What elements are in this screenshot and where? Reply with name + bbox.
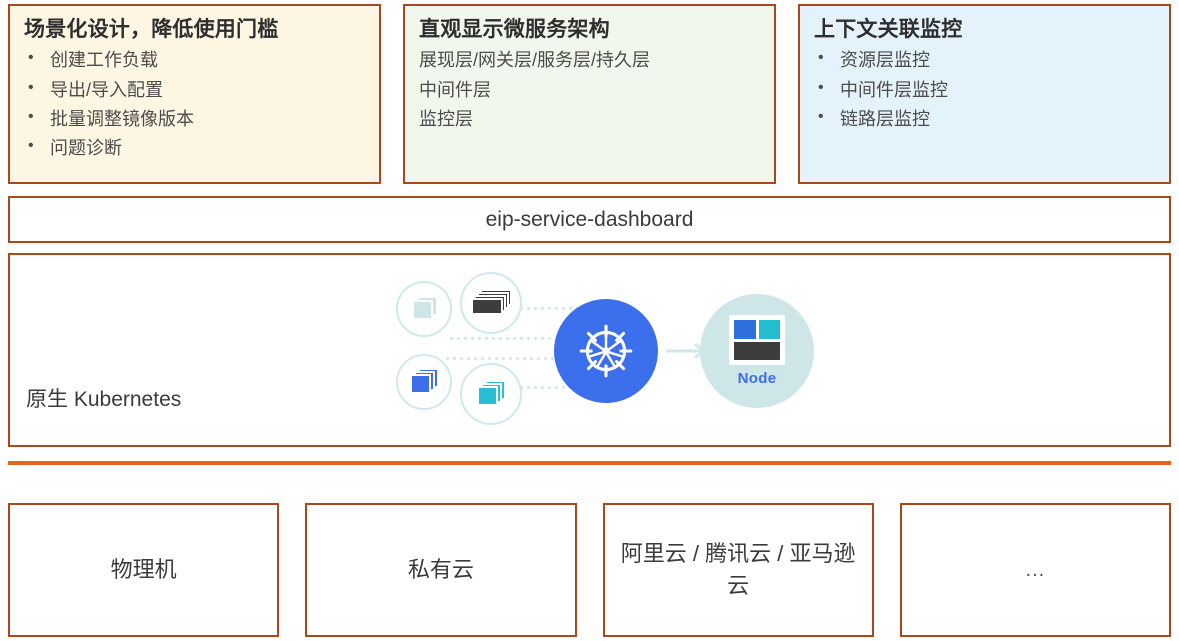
dashboard-label: eip-service-dashboard <box>486 208 694 232</box>
infrastructure-label: 阿里云 / 腾讯云 / 亚马逊云 <box>619 538 858 602</box>
infrastructure-box-physical-machine: 物理机 <box>8 503 279 637</box>
infrastructure-label: ... <box>1026 556 1046 585</box>
feature-card-title: 场景化设计，降低使用门槛 <box>24 16 365 44</box>
list-item: 问题诊断 <box>24 134 365 163</box>
kubernetes-panel: 原生 Kubernetes <box>8 253 1171 447</box>
architecture-diagram-page: 场景化设计，降低使用门槛 创建工作负载 导出/导入配置 批量调整镜像版本 问题诊… <box>0 0 1179 641</box>
list-item: 展现层/网关层/服务层/持久层 <box>419 46 760 75</box>
node-label: Node <box>738 370 777 387</box>
feature-card-context-monitoring: 上下文关联监控 资源层监控 中间件层监控 链路层监控 <box>798 4 1171 184</box>
list-item: 中间件层监控 <box>814 76 1155 105</box>
kubernetes-logo-circle <box>554 299 658 403</box>
node-tile-dark <box>734 342 780 361</box>
feature-card-title: 上下文关联监控 <box>814 16 1155 44</box>
feature-card-text-lines: 展现层/网关层/服务层/持久层 中间件层 监控层 <box>419 46 760 133</box>
node-tile-blue <box>734 320 756 339</box>
infrastructure-box-others: ... <box>900 503 1171 637</box>
list-item: 中间件层 <box>419 76 760 105</box>
feature-card-title: 直观显示微服务架构 <box>419 16 760 44</box>
list-item: 监控层 <box>419 105 760 134</box>
container-circle-dark <box>460 272 522 334</box>
container-circle-blue <box>396 354 452 410</box>
container-circle-pale <box>396 281 452 337</box>
infrastructure-row: 物理机 私有云 阿里云 / 腾讯云 / 亚马逊云 ... <box>8 503 1171 637</box>
kubernetes-helm-wheel-icon <box>575 320 637 382</box>
node-circle: Node <box>700 294 814 408</box>
infrastructure-label: 私有云 <box>408 554 474 586</box>
stacked-layers-dark-icon <box>470 289 512 317</box>
feature-card-bullet-list: 资源层监控 中间件层监控 链路层监控 <box>814 46 1155 133</box>
list-item: 资源层监控 <box>814 46 1155 75</box>
feature-card-microservice-architecture: 直观显示微服务架构 展现层/网关层/服务层/持久层 中间件层 监控层 <box>403 4 776 184</box>
section-divider <box>8 461 1171 465</box>
kubernetes-label: 原生 Kubernetes <box>26 383 181 413</box>
stacked-squares-teal-icon <box>476 380 506 408</box>
feature-card-bullet-list: 创建工作负载 导出/导入配置 批量调整镜像版本 问题诊断 <box>24 46 365 163</box>
node-tile-teal <box>759 320 781 339</box>
list-item: 批量调整镜像版本 <box>24 105 365 134</box>
node-tiles-icon <box>729 315 785 365</box>
infrastructure-box-private-cloud: 私有云 <box>305 503 576 637</box>
container-circle-teal <box>460 363 522 425</box>
eip-service-dashboard-bar: eip-service-dashboard <box>8 196 1171 243</box>
feature-cards-row: 场景化设计，降低使用门槛 创建工作负载 导出/导入配置 批量调整镜像版本 问题诊… <box>8 4 1171 184</box>
infrastructure-box-public-clouds: 阿里云 / 腾讯云 / 亚马逊云 <box>603 503 874 637</box>
stacked-squares-blue-icon <box>409 368 439 396</box>
feature-card-scenario-design: 场景化设计，降低使用门槛 创建工作负载 导出/导入配置 批量调整镜像版本 问题诊… <box>8 4 381 184</box>
infrastructure-label: 物理机 <box>111 554 177 586</box>
stacked-squares-pale-icon <box>410 296 438 322</box>
list-item: 导出/导入配置 <box>24 76 365 105</box>
kubernetes-figure: Node <box>378 269 818 435</box>
list-item: 链路层监控 <box>814 105 1155 134</box>
list-item: 创建工作负载 <box>24 46 365 75</box>
